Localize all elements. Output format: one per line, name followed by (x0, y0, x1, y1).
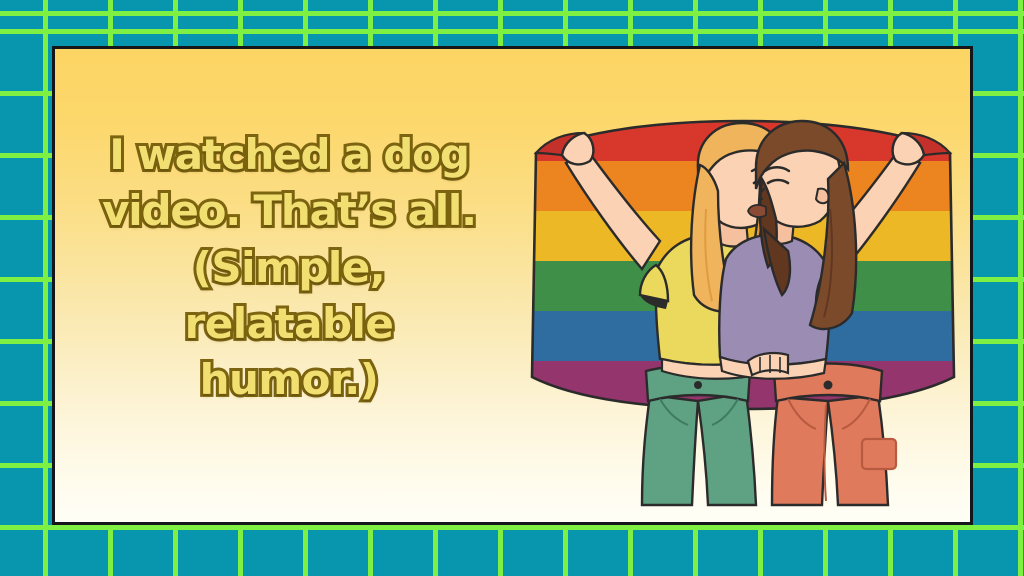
woman-right-pants-button (824, 381, 833, 390)
caption-text-block: I watched a dog video. That’s all. (Simp… (79, 127, 499, 408)
illustration-two-women-kissing-pride-flag (510, 109, 973, 525)
screenshot-stage: I watched a dog video. That’s all. (Simp… (0, 0, 1024, 576)
woman-right-lips (748, 205, 766, 217)
woman-left-pants-right-leg (698, 393, 756, 505)
caption-card: I watched a dog video. That’s all. (Simp… (52, 46, 973, 525)
woman-right-cargo-pocket (862, 439, 896, 469)
caption-line-1: I watched a dog (79, 127, 499, 183)
caption-line-5: humor.) (79, 352, 499, 408)
woman-left-pants-button (694, 381, 702, 389)
caption-line-3: (Simple, (79, 240, 499, 296)
woman-right-ear (816, 189, 829, 204)
woman-right-pants-left-leg (772, 397, 828, 505)
caption-line-2: video. That’s all. (79, 183, 499, 239)
caption-line-4: relatable (79, 296, 499, 352)
